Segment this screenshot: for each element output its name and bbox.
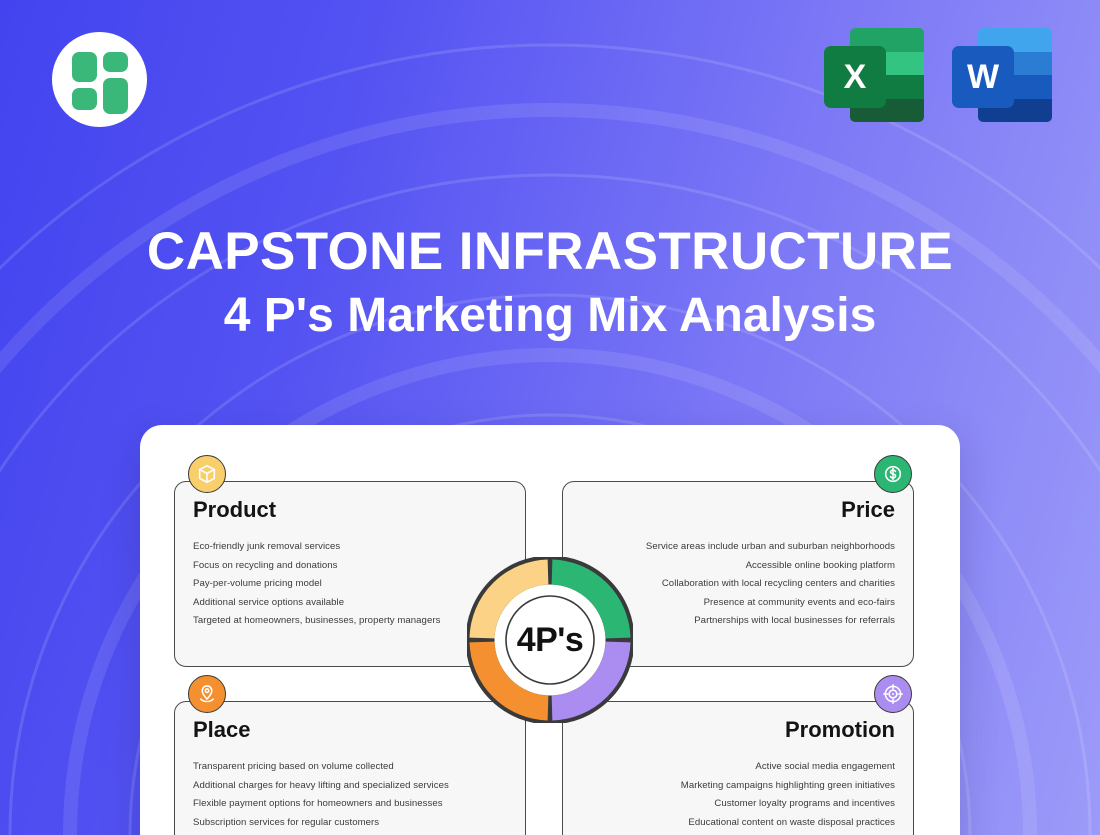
quadrant-title-price: Price — [581, 498, 895, 522]
package-box-icon — [188, 455, 226, 493]
donut-svg — [467, 557, 633, 723]
dollar-coin-icon — [874, 455, 912, 493]
title-line-2: 4 P's Marketing Mix Analysis — [0, 289, 1100, 343]
logo-tile — [72, 52, 97, 82]
list-item: Service areas include urban and suburban… — [581, 538, 895, 556]
four-ps-donut-chart: 4P's — [467, 557, 633, 723]
excel-icon-letter: X — [824, 46, 886, 108]
excel-icon[interactable]: X — [824, 28, 924, 122]
list-item: Transparent pricing based on volume coll… — [193, 758, 507, 776]
title-line-1: CAPSTONE INFRASTRUCTURE — [0, 222, 1100, 281]
word-icon-letter: W — [952, 46, 1014, 108]
four-ps-board: Product Eco-friendly junk removal servic… — [140, 425, 960, 835]
list-item: Pay-per-volume pricing model — [193, 575, 507, 593]
list-item: Marketing campaigns highlighting green i… — [581, 777, 895, 795]
dashboard-grid-logo-icon — [72, 52, 128, 108]
quadrant-title-place: Place — [193, 718, 507, 742]
list-item: Active social media engagement — [581, 758, 895, 776]
target-crosshair-icon — [874, 675, 912, 713]
logo-tile — [72, 88, 97, 110]
word-icon[interactable]: W — [952, 28, 1052, 122]
list-item: Educational content on waste disposal pr… — [581, 814, 895, 832]
office-app-icons: X W — [824, 28, 1052, 122]
list-item: Focus on recycling and donations — [193, 557, 507, 575]
poster-canvas: X W CAPSTONE INFRASTRUCTURE 4 P's Market… — [0, 0, 1100, 835]
logo-tile — [103, 52, 128, 72]
quadrant-title-product: Product — [193, 498, 507, 522]
list-item: Additional charges for heavy lifting and… — [193, 777, 507, 795]
logo-tile — [103, 78, 128, 114]
quadrant-list-product: Eco-friendly junk removal services Focus… — [193, 538, 507, 630]
list-item: Eco-friendly junk removal services — [193, 538, 507, 556]
quadrant-list-place: Transparent pricing based on volume coll… — [193, 758, 507, 835]
page-title: CAPSTONE INFRASTRUCTURE 4 P's Marketing … — [0, 222, 1100, 343]
list-item: Targeted at homeowners, businesses, prop… — [193, 612, 507, 630]
list-item: Flexible payment options for homeowners … — [193, 795, 507, 813]
location-pin-icon — [188, 675, 226, 713]
brand-logo — [52, 32, 147, 127]
list-item: Customer loyalty programs and incentives — [581, 795, 895, 813]
list-item: Additional service options available — [193, 594, 507, 612]
list-item: Subscription services for regular custom… — [193, 814, 507, 832]
quadrant-list-promotion: Active social media engagement Marketing… — [581, 758, 895, 835]
